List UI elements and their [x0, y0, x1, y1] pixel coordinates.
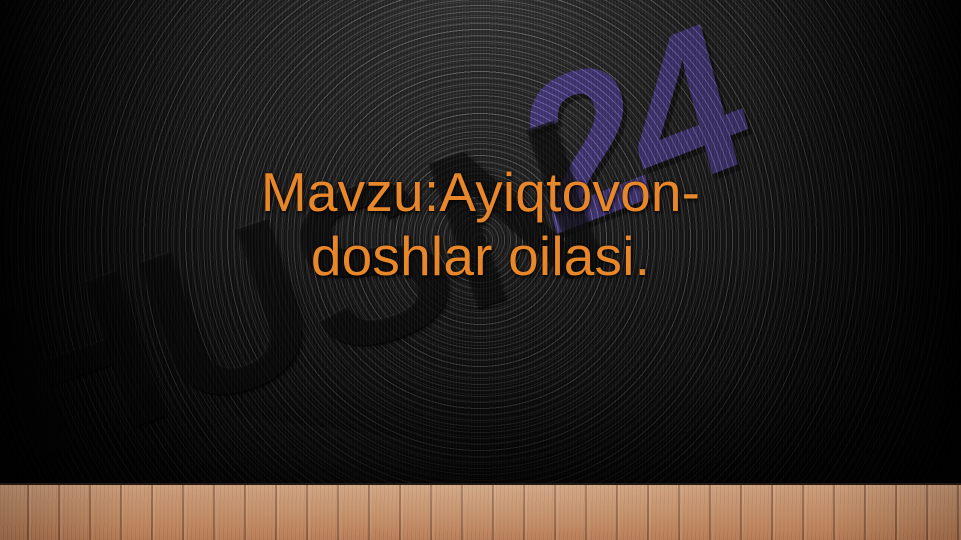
- slide-title[interactable]: Mavzu:Ayiqtovon- doshlar oilasi.: [261, 160, 700, 289]
- floor-plank-seams: [0, 483, 961, 540]
- floor-light-sheen: [0, 483, 961, 540]
- wooden-floor: [0, 483, 961, 540]
- floor-wood-grain: [0, 483, 961, 540]
- floor-wall-seam: [0, 483, 961, 485]
- presentation-slide: 24 24 HUSN Mavzu:Ayiqtovon- doshlar oila…: [0, 0, 961, 540]
- floor-light-wedge: [120, 416, 540, 483]
